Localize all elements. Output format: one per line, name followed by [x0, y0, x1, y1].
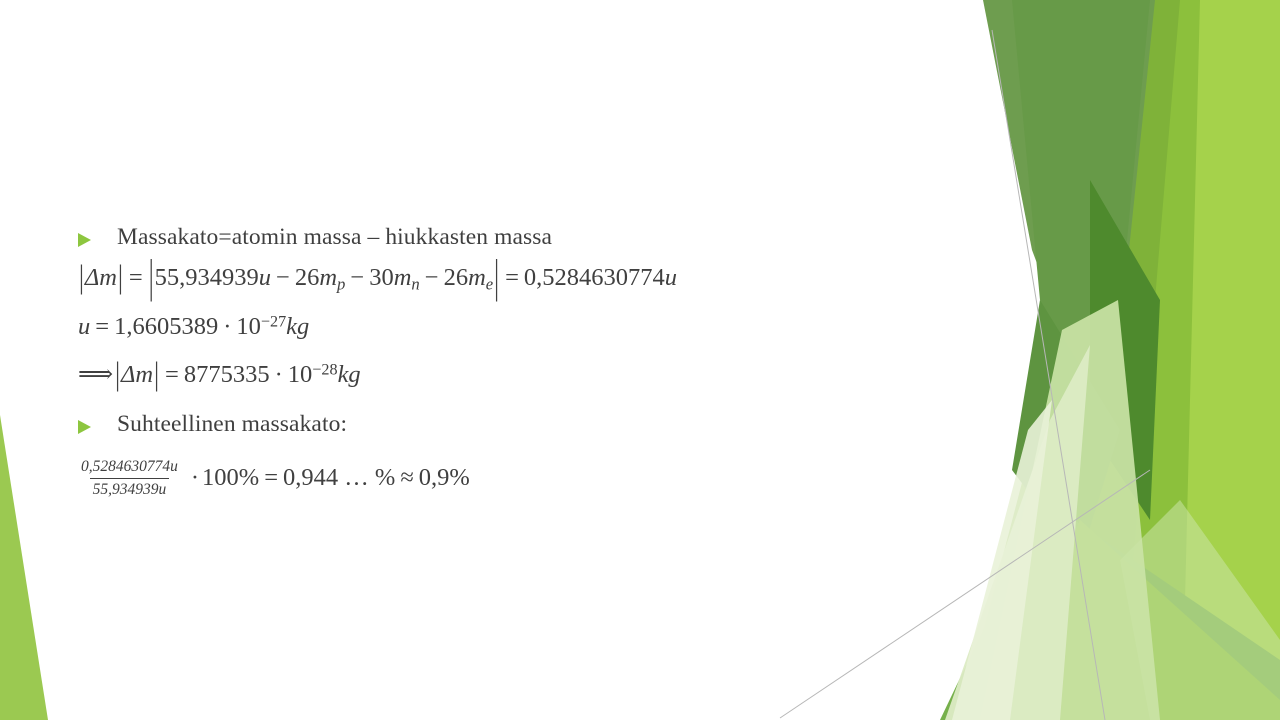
eq1-minus-3: − [425, 264, 439, 291]
deco-shape-midgreen [980, 0, 1200, 720]
frac-rounded: 0,9% [419, 464, 470, 491]
deco-shape-pale-2 [945, 345, 1090, 720]
triangle-bullet-icon [78, 233, 91, 247]
equation-atomic-mass-unit: u=1,6605389·10−27kg [78, 311, 798, 343]
fraction: 0,5284630774u 55,934939u [78, 457, 181, 500]
deco-shape-dark-top [983, 0, 1155, 452]
deco-shape-pale-3 [952, 400, 1052, 720]
frac-approx: ≈ [400, 464, 413, 491]
eq2-dot: · [223, 313, 231, 340]
fraction-tail: ·100%=0,944 … %≈0,9% [188, 464, 470, 492]
eq1-equals: = [129, 264, 143, 291]
implies-arrow-icon: ⟹ [78, 361, 113, 388]
triangle-bullet-icon [78, 420, 91, 434]
equation-relative-mass-defect: 0,5284630774u 55,934939u ·100%=0,944 … %… [78, 457, 798, 500]
bullet-label-massakato: Massakato=atomin massa – hiukkasten mass… [117, 222, 552, 254]
deco-shape-sweep [940, 500, 1280, 720]
deco-shape-darkest [1090, 180, 1160, 520]
deco-hairline-vertical [992, 30, 1105, 720]
deco-shape-left-wedge [0, 415, 48, 720]
eq2-equals: = [95, 313, 109, 340]
eq1-abs-open: | [149, 247, 154, 308]
slide-canvas: Massakato=atomin massa – hiukkasten mass… [0, 0, 1280, 720]
deco-hairline-diagonal [780, 470, 1150, 718]
eq1-m-neutron: m [394, 264, 412, 291]
eq1-m-proton: m [319, 264, 337, 291]
eq1-coef-neutron: 30 [369, 264, 394, 291]
deco-shape-pale-1 [980, 300, 1160, 720]
eq1-equals-2: = [505, 264, 519, 291]
eq1-minus-2: − [350, 264, 364, 291]
slide-body: Massakato=atomin massa – hiukkasten mass… [78, 222, 798, 500]
deco-shape-sweep-2 [1000, 520, 1280, 720]
eq1-m: m [99, 264, 117, 291]
eq1-bar-open: | [79, 256, 84, 299]
eq1-result: 0,5284630774 [524, 264, 665, 291]
eq1-result-unit: u [665, 264, 677, 291]
frac-equals: = [264, 464, 278, 491]
eq1-bar-close: | [118, 256, 123, 299]
eq3-unit: kg [338, 361, 361, 388]
eq3-delta: Δ [121, 361, 135, 388]
equation-mass-defect-kg: ⟹|Δm|=8775335·10−28kg [78, 359, 798, 391]
eq1-coef-proton: 26 [295, 264, 320, 291]
frac-percent-factor: 100% [202, 464, 259, 491]
eq1-abs-close: | [494, 247, 499, 308]
eq2-exponent: −27 [261, 313, 286, 330]
eq3-base: 10 [288, 361, 313, 388]
eq1-atomic-mass: 55,934939 [155, 264, 259, 291]
eq2-base: 10 [236, 313, 261, 340]
eq1-u-unit: u [259, 264, 271, 291]
deco-shape-dark-top-2 [1012, 0, 1150, 470]
eq1-coef-electron: 26 [444, 264, 469, 291]
eq2-mantissa: 1,6605389 [114, 313, 218, 340]
deco-shape-dark-lower [1012, 300, 1120, 560]
equation-mass-defect: |Δm|=|55,934939u−26mp−30mn−26me|=0,52846… [78, 262, 798, 294]
eq3-exponent: −28 [312, 362, 337, 379]
eq1-sub-neutron: n [411, 274, 419, 293]
deco-shape-pale-4 [1120, 500, 1280, 720]
eq3-mantissa: 8775335 [184, 361, 270, 388]
bullet-item-massakato: Massakato=atomin massa – hiukkasten mass… [78, 222, 798, 254]
eq3-dot: · [275, 361, 283, 388]
deco-shape-midgreen-2 [960, 0, 1180, 720]
eq3-equals: = [165, 361, 179, 388]
bullet-label-suhteellinen: Suhteellinen massakato: [117, 409, 347, 441]
eq2-u: u [78, 313, 90, 340]
eq3-bar-open: | [115, 354, 120, 397]
fraction-numerator: 0,5284630774u [78, 457, 181, 478]
fraction-denominator: 55,934939u [90, 478, 170, 500]
frac-dot: · [191, 464, 199, 491]
eq1-m-electron: m [468, 264, 486, 291]
eq1-sub-proton: p [337, 274, 345, 293]
eq1-sub-electron: e [486, 274, 493, 293]
deco-shape-base-right [1012, 0, 1280, 720]
eq3-bar-close: | [154, 354, 159, 397]
bullet-item-suhteellinen: Suhteellinen massakato: [78, 409, 798, 441]
eq1-delta: Δ [85, 264, 99, 291]
deco-shape-right-bright [1160, 0, 1280, 720]
eq3-m: m [135, 361, 153, 388]
eq2-unit: kg [286, 313, 309, 340]
eq1-minus-1: − [276, 264, 290, 291]
frac-result: 0,944 … % [283, 464, 395, 491]
